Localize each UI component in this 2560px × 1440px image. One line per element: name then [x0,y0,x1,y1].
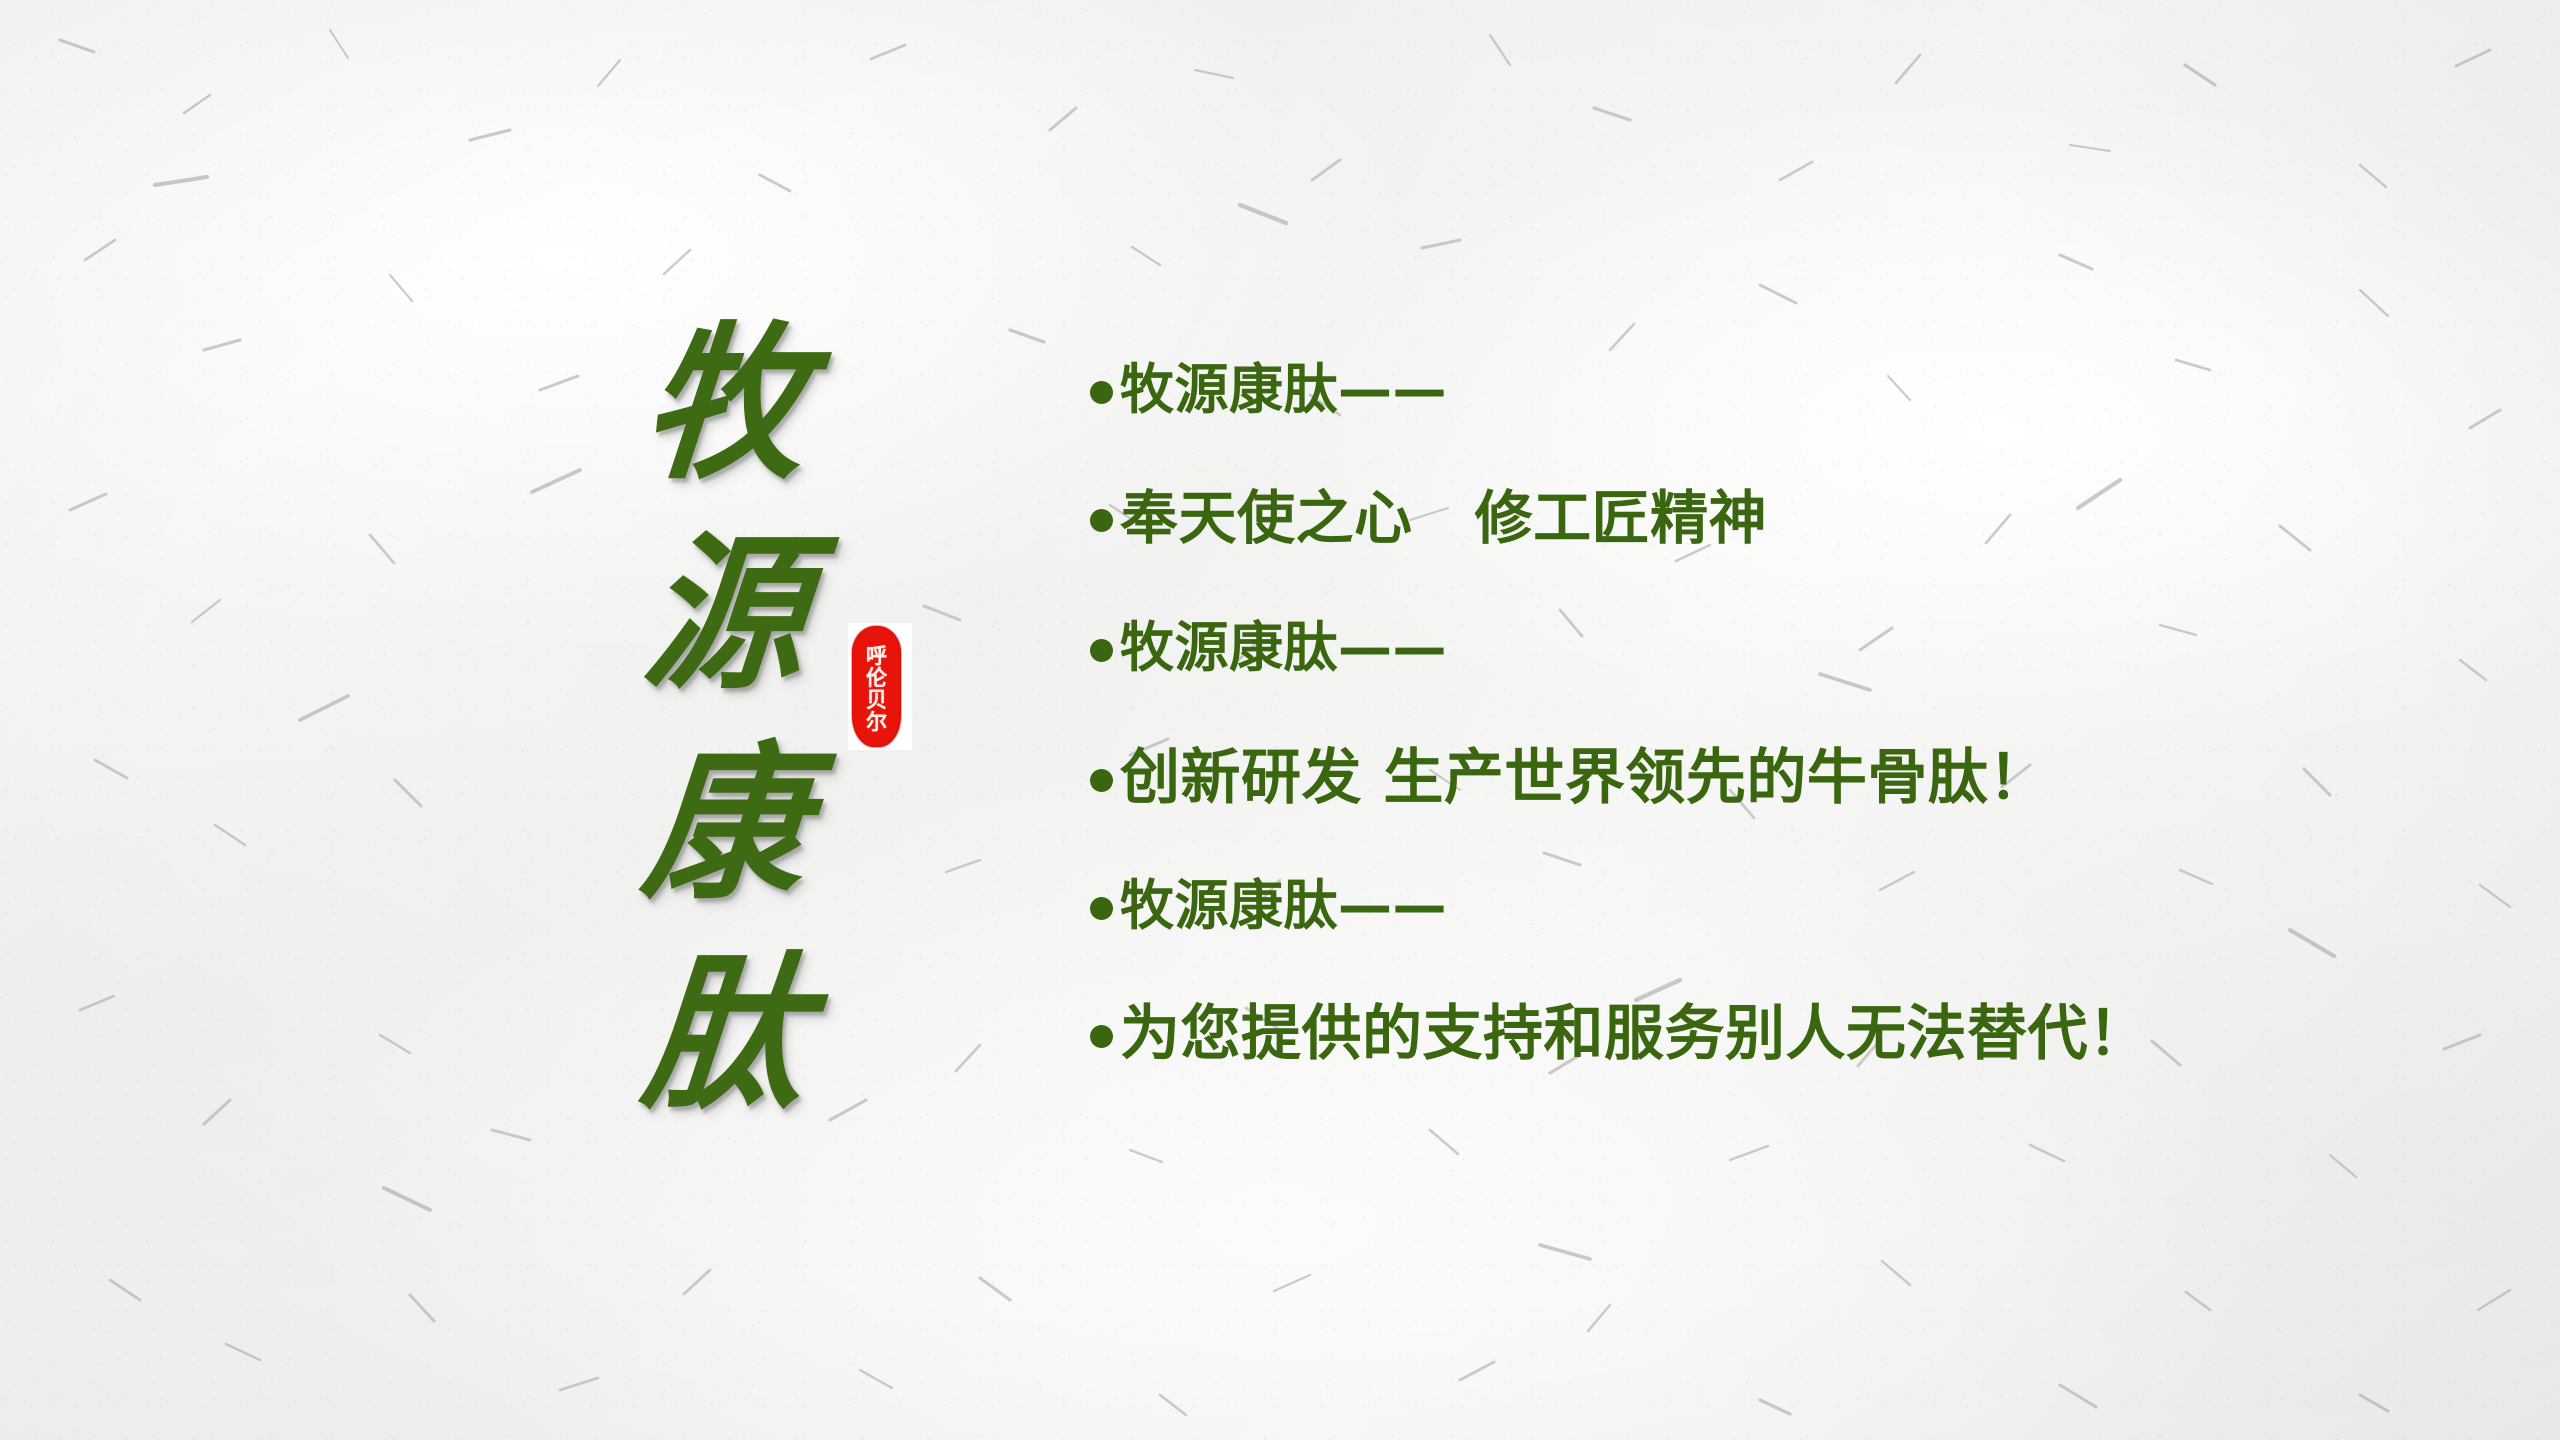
bullet-list: 牧源康肽—— 奉天使之心 修工匠精神 牧源康肽—— 创新研发 生产世界领先的牛骨… [1090,326,2490,1098]
bullet-text-3: 牧源康肽—— [1120,621,1447,675]
bullet-dot-icon [1090,381,1113,404]
bullet-item-1: 牧源康肽—— [1090,326,2490,454]
bullet-item-2: 奉天使之心 修工匠精神 [1090,454,2490,582]
seal-char-1: 呼 [866,645,887,666]
calligraphy-char-4: 肽 [635,924,816,1147]
bullet-dot-icon [1090,509,1113,532]
bullet-item-4: 创新研发 生产世界领先的牛骨肽！ [1090,714,2490,842]
calligraphy-char-3: 康 [635,714,816,937]
seal-char-2: 伦 [866,667,887,688]
bullet-text-6: 为您提供的支持和服务别人无法替代！ [1120,1004,2149,1064]
slide-canvas: 牧 源 康 肽 呼 伦 贝 尔 牧源康肽—— 奉天使之心 修工匠精神 [0,0,2560,1440]
bullet-text-1: 牧源康肽—— [1120,363,1447,417]
bullet-dot-icon [1090,1025,1113,1048]
bullet-dot-icon [1090,769,1113,792]
bullet-dot-icon [1090,639,1113,662]
bullet-item-3: 牧源康肽—— [1090,582,2490,714]
seal-char-4: 尔 [866,711,887,732]
slide-content: 牧 源 康 肽 呼 伦 贝 尔 牧源康肽—— 奉天使之心 修工匠精神 [0,0,2560,1440]
bullet-item-5: 牧源康肽—— [1090,842,2490,970]
calligraphy-char-2: 源 [635,504,816,727]
bullet-text-4: 创新研发 生产世界领先的牛骨肽！ [1120,748,2049,808]
calligraphy-char-1: 牧 [635,294,816,517]
bullet-item-6: 为您提供的支持和服务别人无法替代！ [1090,970,2490,1098]
bullet-text-5: 牧源康肽—— [1120,879,1447,933]
vertical-calligraphy-title: 牧 源 康 肽 [630,300,820,1141]
seal-char-3: 贝 [866,689,887,710]
red-seal-stamp: 呼 伦 贝 尔 [848,623,912,750]
seal-text-column: 呼 伦 贝 尔 [848,623,905,750]
bullet-dot-icon [1090,897,1113,920]
bullet-text-2: 奉天使之心 修工匠精神 [1120,489,1767,547]
